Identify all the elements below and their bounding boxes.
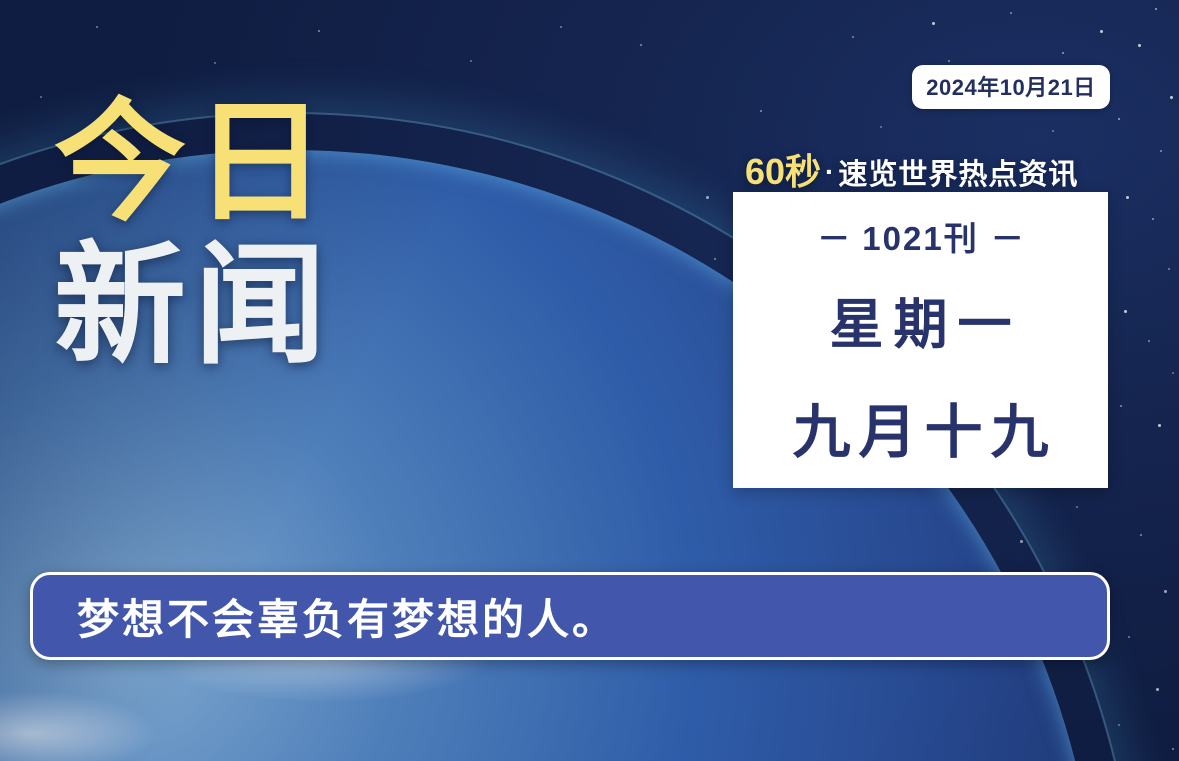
quote-bar: 梦想不会辜负有梦想的人。 [30,572,1110,660]
tagline: 60秒·速览世界热点资讯 [745,143,1078,195]
info-card: －1021刊－ 星期一 九月十九 [733,192,1108,488]
date-badge: 2024年10月21日 [912,65,1110,109]
tagline-seconds: 60秒 [745,151,821,192]
quote-text: 梦想不会辜负有梦想的人。 [33,586,617,647]
issue-line: －1021刊－ [805,212,1035,260]
masthead-line-news: 新闻 [54,239,334,374]
masthead: 今日 新闻 [54,96,334,373]
issue-dash-left: － [805,220,862,257]
issue-number: 1021刊 [862,220,978,257]
masthead-line-today: 今日 [54,96,334,231]
news-poster: 2024年10月21日 今日 新闻 60秒·速览世界热点资讯 －1021刊－ 星… [0,0,1179,761]
issue-dash-right: － [979,220,1036,257]
tagline-separator: · [821,156,838,187]
lunar-date-label: 九月十九 [784,385,1056,469]
weekday-label: 星期一 [820,280,1022,359]
tagline-subtitle: 速览世界热点资讯 [838,159,1078,191]
